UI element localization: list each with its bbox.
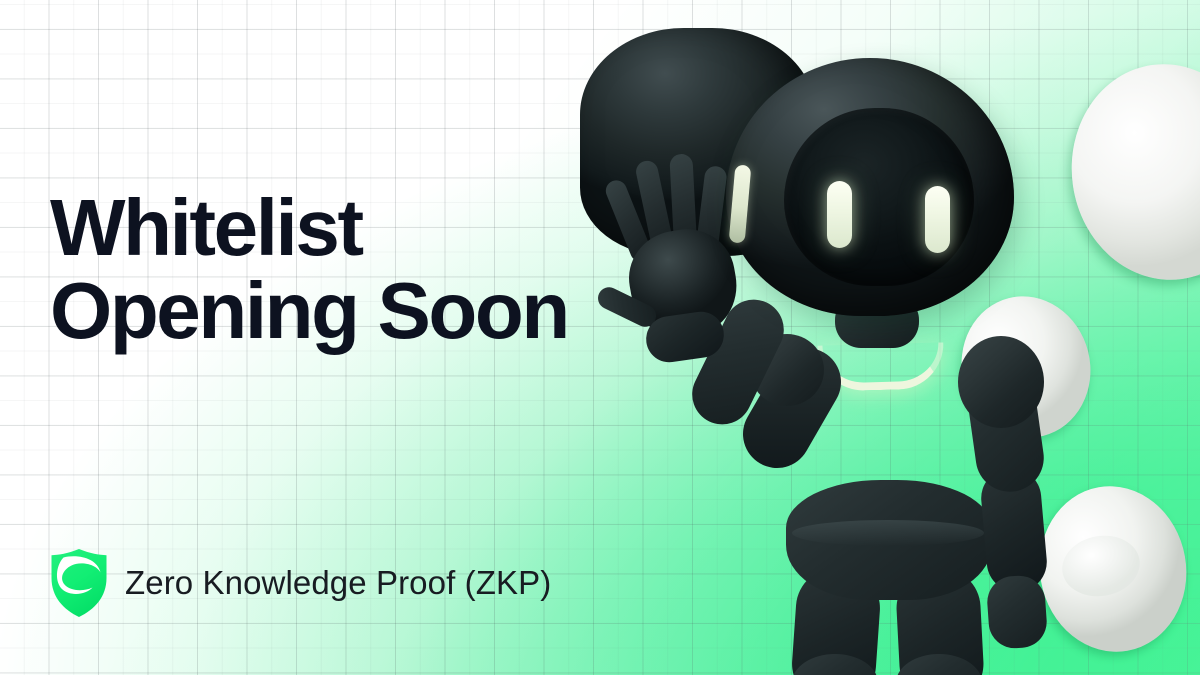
promo-banner: Whitelist Opening Soon Zero Knowledge Pr… bbox=[0, 0, 1200, 675]
robot-eye-right-icon bbox=[925, 186, 950, 253]
shield-logo-icon bbox=[50, 548, 108, 618]
brand-name-label: Zero Knowledge Proof (ZKP) bbox=[125, 564, 551, 602]
waving-robot-mascot bbox=[580, 28, 1140, 675]
robot-shoulder-right bbox=[958, 336, 1044, 428]
brand-lockup: Zero Knowledge Proof (ZKP) bbox=[50, 548, 551, 618]
robot-hand-right bbox=[986, 574, 1049, 650]
robot-hip-seam bbox=[792, 520, 984, 546]
page-title: Whitelist Opening Soon bbox=[50, 186, 568, 352]
robot-eye-left-icon bbox=[827, 181, 852, 248]
